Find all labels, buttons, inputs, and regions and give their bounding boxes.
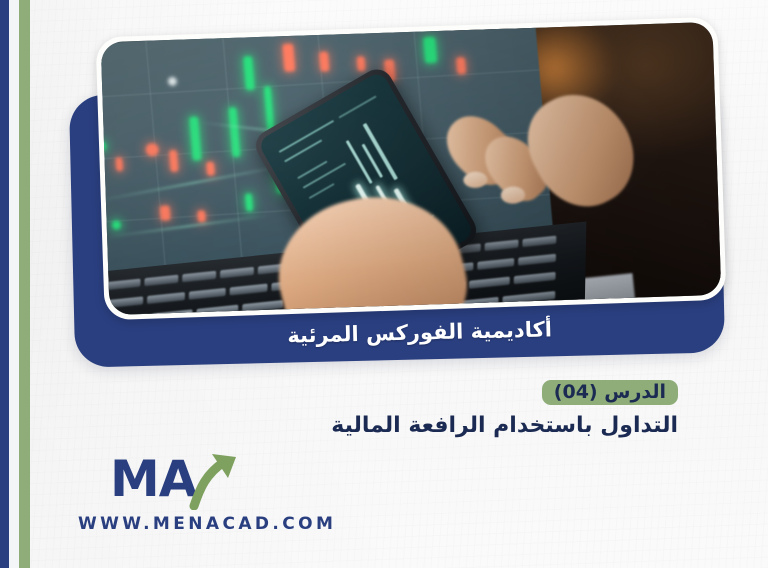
left-edge-white-gap (9, 0, 19, 568)
lesson-block: الدرس (04) التداول باستخدام الرافعة الما… (331, 380, 678, 441)
left-edge-navy-bar (0, 0, 9, 568)
lesson-number-badge: الدرس (04) (542, 380, 678, 405)
lesson-title-text: التداول باستخدام الرافعة المالية (331, 412, 678, 441)
brand-url: WWW.MENACAD.COM (48, 514, 328, 534)
growth-arrow-icon (184, 448, 246, 510)
lesson-number-text: الدرس (04) (554, 381, 666, 403)
left-edge-green-bar (19, 0, 30, 568)
brand-logo: MA WWW.MENACAD.COM (48, 452, 328, 534)
forex-trading-photo (101, 22, 722, 315)
forex-trading-photo-frame (95, 17, 726, 320)
photo-scene (101, 22, 722, 315)
course-thumbnail-poster: أكاديمية الفوركس المرئية الدرس (04) التد… (0, 0, 768, 568)
brand-mark: MA (110, 452, 270, 508)
